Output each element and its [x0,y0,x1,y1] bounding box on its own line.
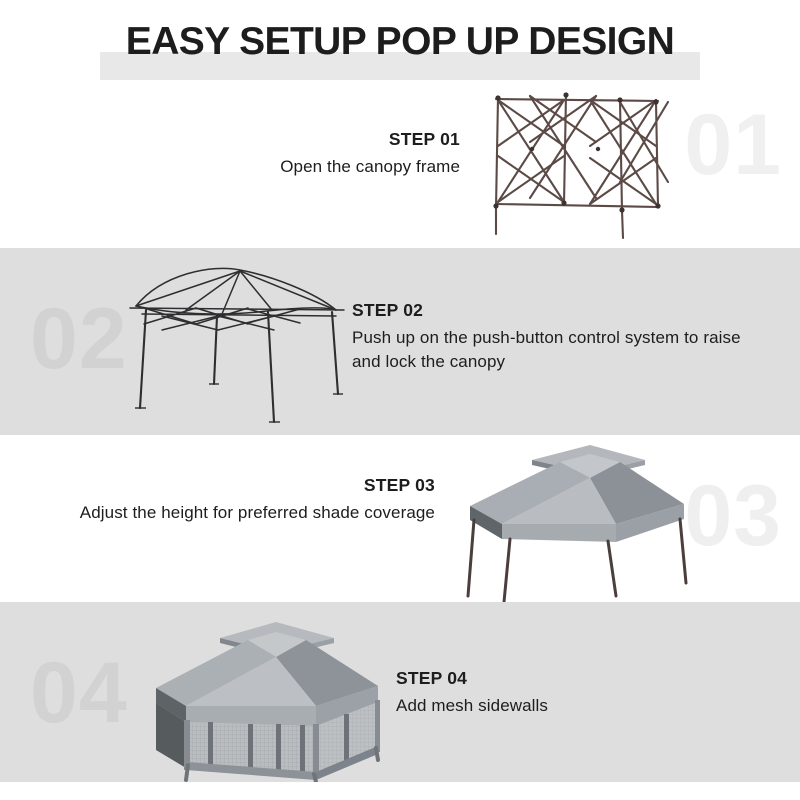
illustration-gazebo-with-canopy [440,440,690,602]
step-band-1: 01 STEP 01 Open the canopy frame [0,84,800,248]
step-1-description: Open the canopy frame [60,155,460,179]
watermark-number-01: 01 [684,102,782,188]
step-4-text: STEP 04 Add mesh sidewalls [396,668,776,718]
step-1-text: STEP 01 Open the canopy frame [60,129,460,179]
step-band-3: 03 STEP 03 Adjust the height for preferr… [0,435,800,602]
step-4-label: STEP 04 [396,668,776,689]
step-3-label: STEP 03 [40,475,435,496]
step-band-2: 02 STEP 02 Push up on the push-button co… [0,248,800,435]
step-4-description: Add mesh sidewalls [396,694,776,718]
step-1-label: STEP 01 [60,129,460,150]
step-2-label: STEP 02 [352,300,752,321]
watermark-number-02: 02 [30,296,128,382]
watermark-number-04: 04 [30,650,128,736]
step-2-description: Push up on the push-button control syste… [352,326,752,374]
page-title: EASY SETUP POP UP DESIGN [0,20,800,64]
illustration-folded-canopy-frame [480,86,670,241]
header: EASY SETUP POP UP DESIGN [0,0,800,92]
step-band-4: 04 STEP 04 Add mesh sidewalls [0,602,800,782]
illustration-gazebo-with-mesh-sidewalls [148,610,408,782]
watermark-number-03: 03 [684,473,782,559]
illustration-raised-canopy-frame [122,266,352,426]
infographic-page: EASY SETUP POP UP DESIGN 01 STEP 01 Open… [0,0,800,800]
step-3-description: Adjust the height for preferred shade co… [40,501,435,525]
step-3-text: STEP 03 Adjust the height for preferred … [40,475,435,525]
step-2-text: STEP 02 Push up on the push-button contr… [352,300,752,374]
